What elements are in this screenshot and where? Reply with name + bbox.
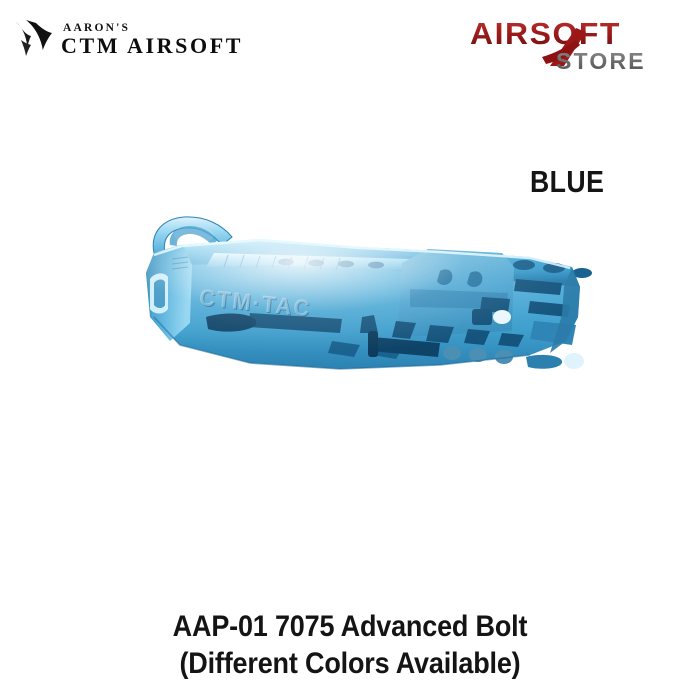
ctm-wing-mark-icon bbox=[14, 18, 54, 62]
product-illustration: CTM·TAC CTM·TAC bbox=[110, 205, 610, 420]
product-image-aap01-bolt: CTM·TAC CTM·TAC bbox=[110, 205, 610, 420]
store-word: STORE bbox=[556, 48, 646, 74]
color-variant-label: BLUE bbox=[530, 164, 604, 200]
airsoft-store-logo-icon: AIRSOFT STORE bbox=[468, 14, 682, 76]
caption-line-2: (Different Colors Available) bbox=[35, 645, 665, 682]
brand-logo-airsoft-store: AIRSOFT STORE bbox=[468, 14, 682, 76]
brand-wordmark: AARON'S CTM AIRSOFT bbox=[61, 23, 243, 58]
airsoft-word: AIRSOFT bbox=[470, 16, 621, 50]
brand-logo-ctm-airsoft: AARON'S CTM AIRSOFT bbox=[14, 18, 243, 62]
caption-line-1: AAP-01 7075 Advanced Bolt bbox=[35, 608, 665, 645]
product-caption: AAP-01 7075 Advanced Bolt (Different Col… bbox=[0, 608, 700, 682]
brand-main-line: CTM AIRSOFT bbox=[61, 35, 243, 57]
bolt-body: CTM·TAC CTM·TAC bbox=[146, 239, 592, 369]
